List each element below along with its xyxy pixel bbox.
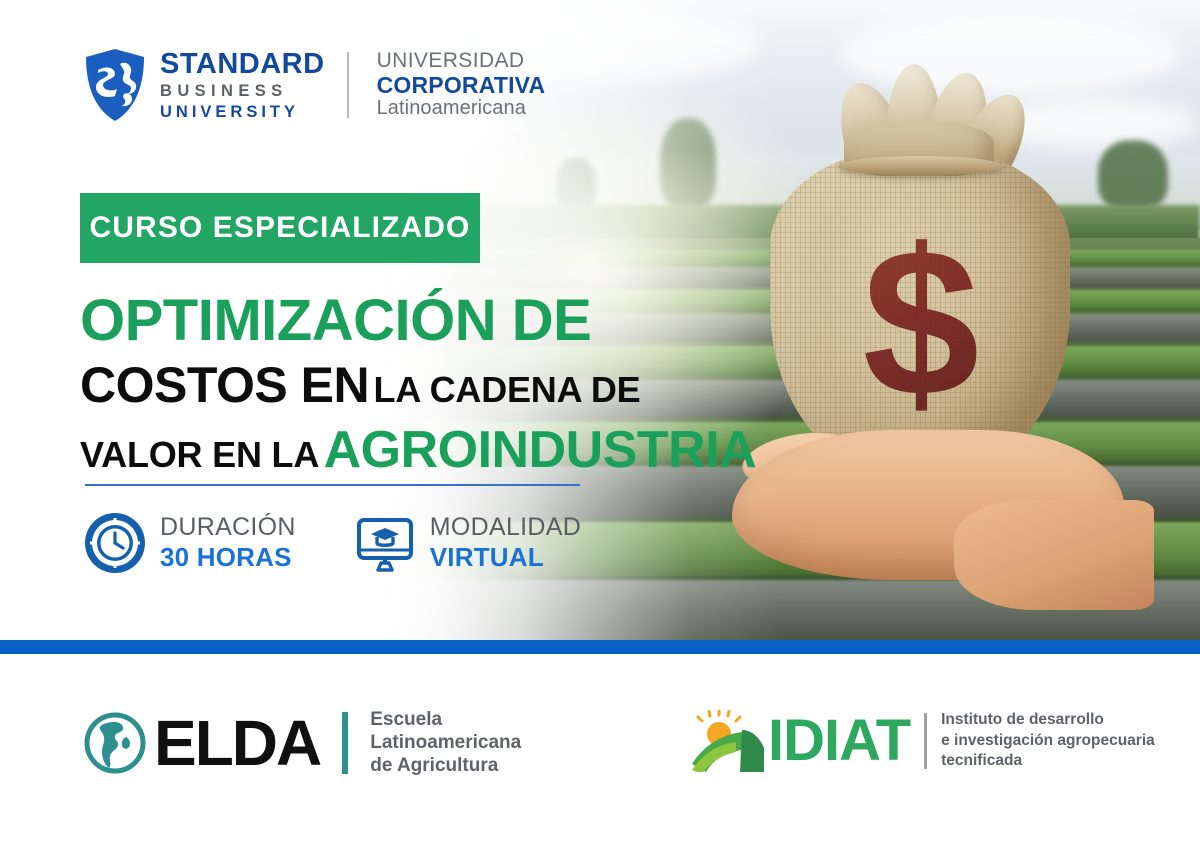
uc-line-1: UNIVERSIDAD <box>377 50 546 73</box>
elda-tagline: Escuela Latinoamericana de Agricultura <box>370 708 521 778</box>
course-type-badge: CURSO ESPECIALIZADO <box>80 193 480 263</box>
clock-icon <box>84 512 146 574</box>
meta-title-modality: MODALIDAD <box>430 514 581 540</box>
idiat-tagline: Instituto de desarrollo e investigación … <box>941 710 1155 771</box>
sbu-university-text: UNIVERSITY <box>160 104 325 121</box>
idiat-tagline-line-1: Instituto de desarrollo <box>941 710 1155 730</box>
sbu-standard-text: STANDARD <box>160 50 325 79</box>
title-line-3-emphasis: AGROINDUSTRIA <box>324 421 757 479</box>
title-line-3-rest: VALOR EN LA <box>80 434 319 475</box>
elda-tagline-line-3: de Agricultura <box>370 754 521 777</box>
title-underline-rule <box>85 484 580 486</box>
meta-text-modality: MODALIDAD VIRTUAL <box>430 514 581 572</box>
title-line-2: COSTOS EN LA CADENA DE <box>80 360 780 410</box>
title-line-1: OPTIMIZACIÓN DE <box>80 292 780 350</box>
elda-wordmark: ELDA <box>154 711 320 775</box>
sbu-business-text: BUSINESS <box>160 83 325 100</box>
elda-tagline-line-1: Escuela <box>370 708 521 731</box>
title-line-2-rest: LA CADENA DE <box>374 369 641 410</box>
shield-lion-icon <box>84 48 146 122</box>
idiat-divider <box>924 713 927 769</box>
uc-wordmark: UNIVERSIDAD CORPORATIVA Latinoamericana <box>377 50 546 119</box>
monitor-graduation-cap-icon <box>354 512 416 574</box>
course-promo-banner: $ STANDARD BUSINESS UNIVERSITY UNIV <box>0 0 1200 864</box>
title-line-3: VALOR EN LA AGROINDUSTRIA <box>80 424 780 476</box>
meta-text-duration: DURACIÓN 30 HORAS <box>160 514 296 572</box>
elda-divider <box>342 712 348 774</box>
idiat-tagline-line-2: e investigación agropecuaria <box>941 731 1155 751</box>
idiat-logo: IDIAT Instituto de desarrollo e investig… <box>690 710 1155 772</box>
badge-label: CURSO ESPECIALIZADO <box>90 211 471 245</box>
title-line-2-emphasis: COSTOS EN <box>80 357 369 413</box>
meta-item-modality: MODALIDAD VIRTUAL <box>354 512 581 574</box>
elda-tagline-line-2: Latinoamericana <box>370 731 521 754</box>
footer-logos: ELDA Escuela Latinoamericana de Agricult… <box>0 654 1200 864</box>
elda-logo: ELDA Escuela Latinoamericana de Agricult… <box>82 708 521 778</box>
sunrise-field-icon <box>690 710 766 772</box>
logo-divider <box>347 52 349 118</box>
sbu-logo-lockup: STANDARD BUSINESS UNIVERSITY UNIVERSIDAD… <box>84 48 545 122</box>
blue-divider-bar <box>0 640 1200 654</box>
idiat-wordmark: IDIAT <box>768 712 910 770</box>
course-meta-row: DURACIÓN 30 HORAS MODALIDAD VIRTUAL <box>84 512 581 574</box>
meta-value-modality: VIRTUAL <box>430 544 581 571</box>
sbu-wordmark: STANDARD BUSINESS UNIVERSITY <box>160 50 325 120</box>
idiat-tagline-line-3: tecnificada <box>941 751 1155 771</box>
meta-value-duration: 30 HORAS <box>160 544 296 571</box>
globe-americas-icon <box>82 710 148 776</box>
course-title: OPTIMIZACIÓN DE COSTOS EN LA CADENA DE V… <box>80 292 780 476</box>
uc-line-2: CORPORATIVA <box>377 73 546 98</box>
meta-item-duration: DURACIÓN 30 HORAS <box>84 512 296 574</box>
uc-line-3: Latinoamericana <box>377 98 546 120</box>
meta-title-duration: DURACIÓN <box>160 514 296 540</box>
